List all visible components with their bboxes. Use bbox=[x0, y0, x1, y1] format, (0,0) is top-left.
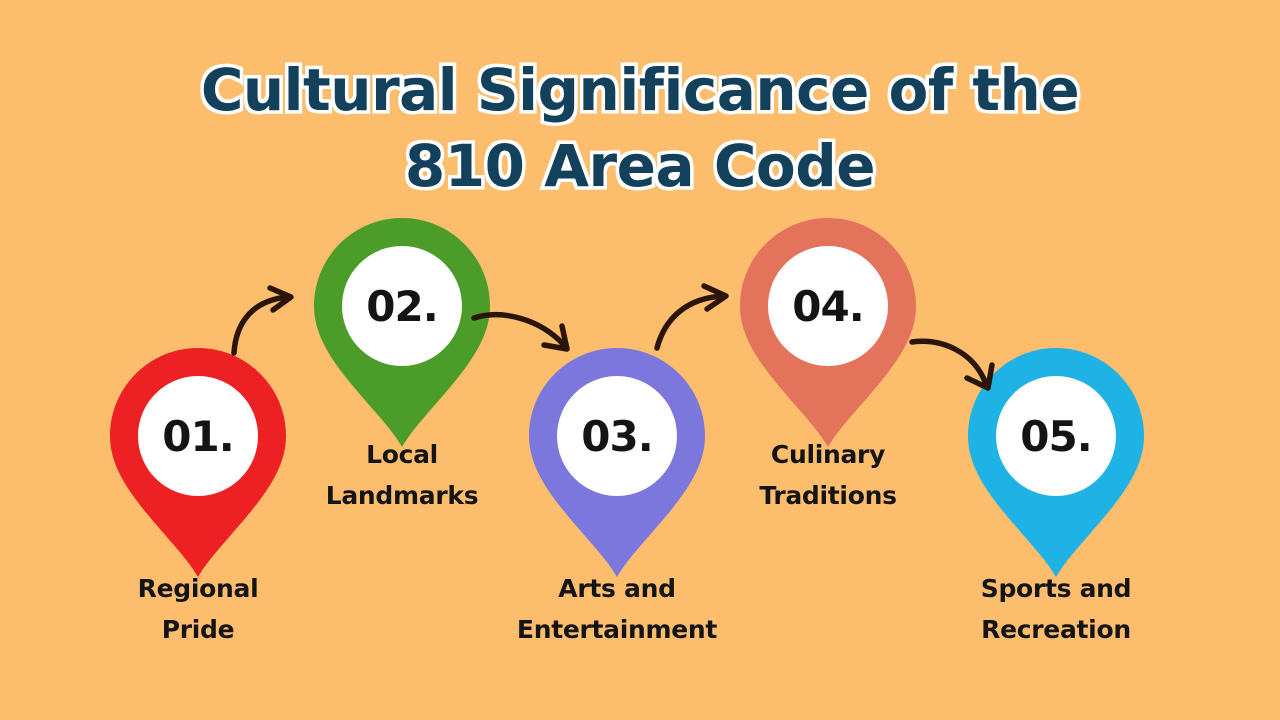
connector-arrow-4 bbox=[908, 332, 1013, 402]
map-pin-icon bbox=[110, 348, 286, 580]
connector-arrow-1 bbox=[228, 285, 323, 355]
step-marker-2[interactable]: 02. bbox=[314, 218, 490, 450]
connector-arrow-2 bbox=[470, 305, 580, 365]
step-label-4: Culinary Traditions bbox=[698, 434, 958, 516]
page-title: Cultural Significance of the 810 Area Co… bbox=[140, 52, 1140, 204]
map-pin-icon bbox=[740, 218, 916, 450]
step-label-5: Sports and Recreation bbox=[926, 568, 1186, 650]
map-pin-icon bbox=[314, 218, 490, 450]
step-label-3: Arts and Entertainment bbox=[487, 568, 747, 650]
step-label-1: Regional Pride bbox=[68, 568, 328, 650]
connector-arrow-3 bbox=[653, 280, 753, 352]
infographic-canvas: Cultural Significance of the 810 Area Co… bbox=[0, 0, 1280, 720]
step-label-2: Local Landmarks bbox=[272, 434, 532, 516]
step-marker-4[interactable]: 04. bbox=[740, 218, 916, 450]
step-marker-1[interactable]: 01. bbox=[110, 348, 286, 580]
map-pin-icon bbox=[529, 348, 705, 580]
step-marker-3[interactable]: 03. bbox=[529, 348, 705, 580]
